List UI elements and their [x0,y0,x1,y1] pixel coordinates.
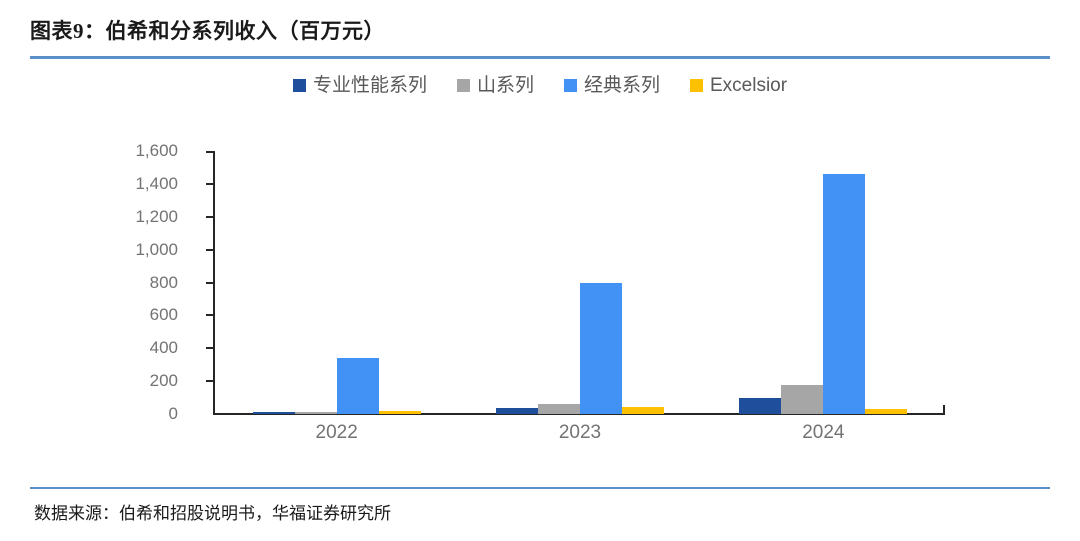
chart-legend: 专业性能系列山系列经典系列Excelsior [0,76,1080,95]
legend-item-2[interactable]: 经典系列 [564,76,660,95]
chart-plot-area: 02004006008001,0001,2001,4001,600 202220… [0,118,1080,468]
footer-divider [30,487,1050,489]
header-divider [30,56,1050,59]
bar[interactable] [538,404,580,414]
bar-group-2023 [458,151,701,414]
y-axis-tick-label: 1,000 [135,240,178,260]
y-axis-tick-label: 800 [150,273,178,293]
y-axis-tick-label: 1,200 [135,207,178,227]
y-axis-tick-label: 200 [150,371,178,391]
y-axis-tick-label: 600 [150,305,178,325]
y-axis-labels: 02004006008001,0001,2001,4001,600 [100,118,178,388]
legend-item-label: 经典系列 [584,76,660,95]
figure-footer: 数据来源：伯希和招股说明书，华福证券研究所 [30,487,1050,531]
legend-item-3[interactable]: Excelsior [690,76,787,95]
page-title: 图表9：伯希和分系列收入（百万元） [30,16,1050,46]
y-axis-tick-label: 0 [169,404,178,424]
x-axis-tick-label: 2023 [559,422,601,444]
legend-item-label: 专业性能系列 [313,76,427,95]
y-axis-tick-label: 1,600 [135,141,178,161]
bar[interactable] [337,358,379,414]
legend-item-label: 山系列 [477,76,534,95]
bar[interactable] [496,408,538,414]
source-note: 数据来源：伯希和招股说明书，华福证券研究所 [34,499,391,524]
bar-group-2024 [702,151,945,414]
legend-swatch-icon [564,79,577,92]
bar-series-container [215,151,945,414]
legend-item-0[interactable]: 专业性能系列 [293,76,427,95]
chart-figure-page: 图表9：伯希和分系列收入（百万元） 专业性能系列山系列经典系列Excelsior… [0,0,1080,541]
figure-header: 图表9：伯希和分系列收入（百万元） [30,16,1050,62]
x-axis-tick-label: 2022 [316,422,358,444]
legend-item-label: Excelsior [710,76,787,95]
bar[interactable] [622,407,664,414]
bar[interactable] [739,398,781,414]
bar-group-2022 [215,151,458,414]
bar[interactable] [295,412,337,414]
bar[interactable] [580,283,622,414]
x-axis-tick-label: 2024 [802,422,844,444]
bar[interactable] [379,411,421,414]
y-axis-tick-label: 400 [150,338,178,358]
x-axis-labels: 202220232024 [215,418,945,452]
y-axis-tick-label: 1,400 [135,174,178,194]
legend-swatch-icon [690,79,703,92]
bar[interactable] [781,385,823,414]
bar[interactable] [865,409,907,414]
bar[interactable] [823,174,865,414]
legend-swatch-icon [293,79,306,92]
bar[interactable] [253,412,295,414]
legend-item-1[interactable]: 山系列 [457,76,534,95]
legend-swatch-icon [457,79,470,92]
